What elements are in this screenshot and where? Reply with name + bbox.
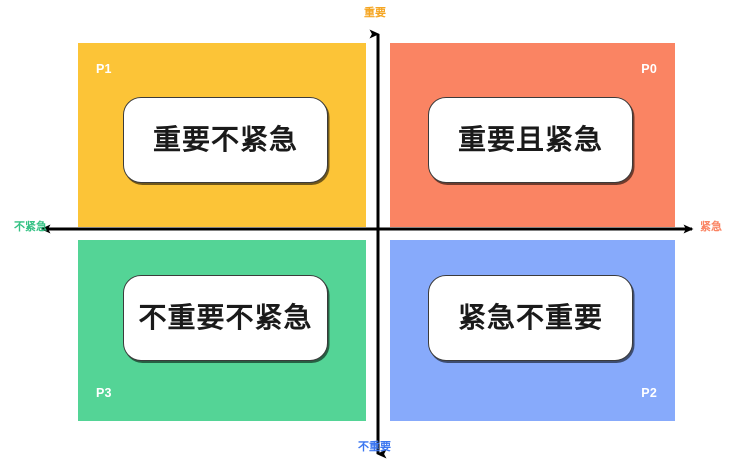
quadrant-p2-card-label: 紧急不重要: [458, 304, 603, 332]
quadrant-p1-priority-tag: P1: [96, 63, 112, 76]
quadrant-p3-card-label: 不重要不紧急: [138, 304, 312, 332]
quadrant-p2-priority-tag: P2: [641, 387, 657, 400]
priority-matrix-diagram: P1 P0 P3 P2 重要: [0, 0, 734, 470]
quadrant-p3-card[interactable]: 不重要不紧急: [123, 275, 328, 361]
axis-label-not-urgent: 不紧急: [14, 222, 47, 233]
quadrant-p3-priority-tag: P3: [96, 387, 112, 400]
axis-label-not-important: 不重要: [358, 442, 391, 453]
quadrant-p2-card[interactable]: 紧急不重要: [428, 275, 633, 361]
quadrant-p1-card[interactable]: 重要不紧急: [123, 97, 328, 183]
quadrant-p1-card-label: 重要不紧急: [153, 126, 298, 154]
axis-label-important: 重要: [364, 8, 386, 19]
quadrant-p0-priority-tag: P0: [641, 63, 657, 76]
axis-label-urgent: 紧急: [700, 222, 722, 233]
quadrant-p0-card[interactable]: 重要且紧急: [428, 97, 633, 183]
quadrant-p0-card-label: 重要且紧急: [458, 126, 603, 154]
